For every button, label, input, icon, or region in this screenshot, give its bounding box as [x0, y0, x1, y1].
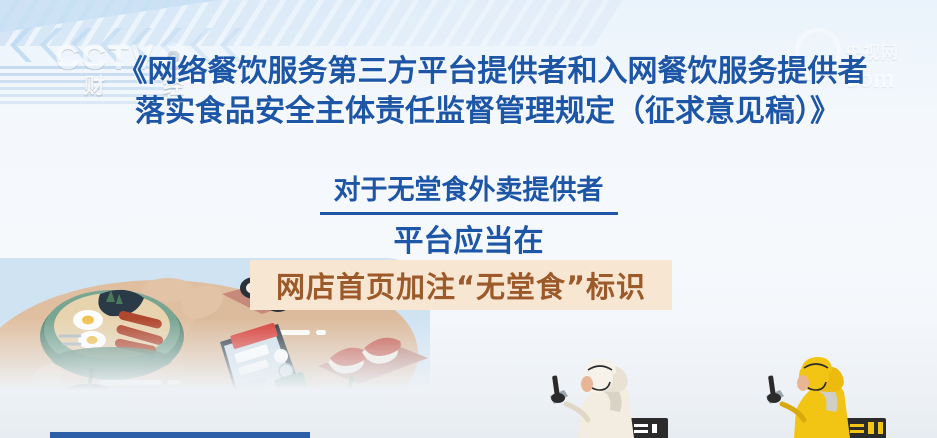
subject-line-text: 对于无堂食外卖提供者 [320, 168, 618, 215]
delivery-riders-illustration [540, 352, 937, 438]
highlight-banner-text: 网店首页加注“无堂食”标识 [276, 264, 646, 306]
subject-line-block: 对于无堂食外卖提供者 [0, 168, 937, 215]
highlight-banner: 网店首页加注“无堂食”标识 [250, 260, 672, 310]
bottom-accent-strip [50, 432, 310, 438]
headline-line-2: 落实食品安全主体责任监督管理规定（征求意见稿）》 [0, 92, 937, 132]
action-line-text: 平台应当在 [394, 224, 544, 259]
delivery-rider-yellow [766, 357, 886, 438]
headline-line-1: 《网络餐饮服务第三方平台提供者和入网餐饮服务提供者 [0, 52, 937, 92]
delivery-rider-white [550, 359, 668, 438]
broadcast-frame: CCTV2 财 经 央视网 CCTV com 《网络餐饮服务第三方平台提供者和入… [0, 0, 937, 438]
action-line-block: 平台应当在 [0, 216, 937, 260]
illustration-blue-slab [315, 400, 455, 432]
riders-svg [540, 352, 937, 438]
headline-block: 《网络餐饮服务第三方平台提供者和入网餐饮服务提供者 落实食品安全主体责任监督管理… [0, 52, 937, 132]
